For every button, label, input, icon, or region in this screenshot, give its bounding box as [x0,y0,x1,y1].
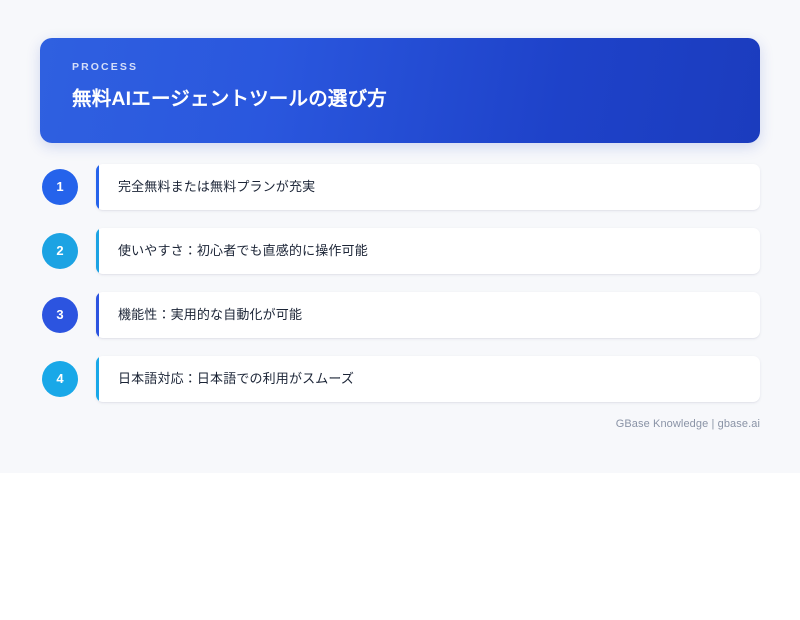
step-accent-bar [96,356,99,402]
step-number-badge: 3 [42,297,78,333]
content-panel: PROCESS 無料AIエージェントツールの選び方 1 完全無料または無料プラン… [0,0,800,473]
step-label: 機能性：実用的な自動化が可能 [118,292,744,338]
list-item[interactable]: 2 使いやすさ：初心者でも直感的に操作可能 [0,228,800,274]
step-card[interactable]: 機能性：実用的な自動化が可能 [96,292,760,338]
step-number-badge: 2 [42,233,78,269]
step-accent-bar [96,292,99,338]
step-number-badge: 4 [42,361,78,397]
step-number-badge: 1 [42,169,78,205]
header-banner: PROCESS 無料AIエージェントツールの選び方 [40,38,760,143]
step-card[interactable]: 使いやすさ：初心者でも直感的に操作可能 [96,228,760,274]
step-card[interactable]: 完全無料または無料プランが充実 [96,164,760,210]
list-item[interactable]: 1 完全無料または無料プランが充実 [0,164,800,210]
list-item[interactable]: 3 機能性：実用的な自動化が可能 [0,292,800,338]
step-accent-bar [96,164,99,210]
header-eyebrow-label: PROCESS [72,62,730,73]
step-accent-bar [96,228,99,274]
step-label: 使いやすさ：初心者でも直感的に操作可能 [118,228,744,274]
step-label: 日本語対応：日本語での利用がスムーズ [118,356,744,402]
page-title: 無料AIエージェントツールの選び方 [72,87,730,111]
list-item[interactable]: 4 日本語対応：日本語での利用がスムーズ [0,356,800,402]
step-card[interactable]: 日本語対応：日本語での利用がスムーズ [96,356,760,402]
step-label: 完全無料または無料プランが充実 [118,164,744,210]
footer-attribution: GBase Knowledge | gbase.ai [40,418,760,430]
process-step-list: 1 完全無料または無料プランが充実 2 使いやすさ：初心者でも直感的に操作可能 … [0,164,800,402]
